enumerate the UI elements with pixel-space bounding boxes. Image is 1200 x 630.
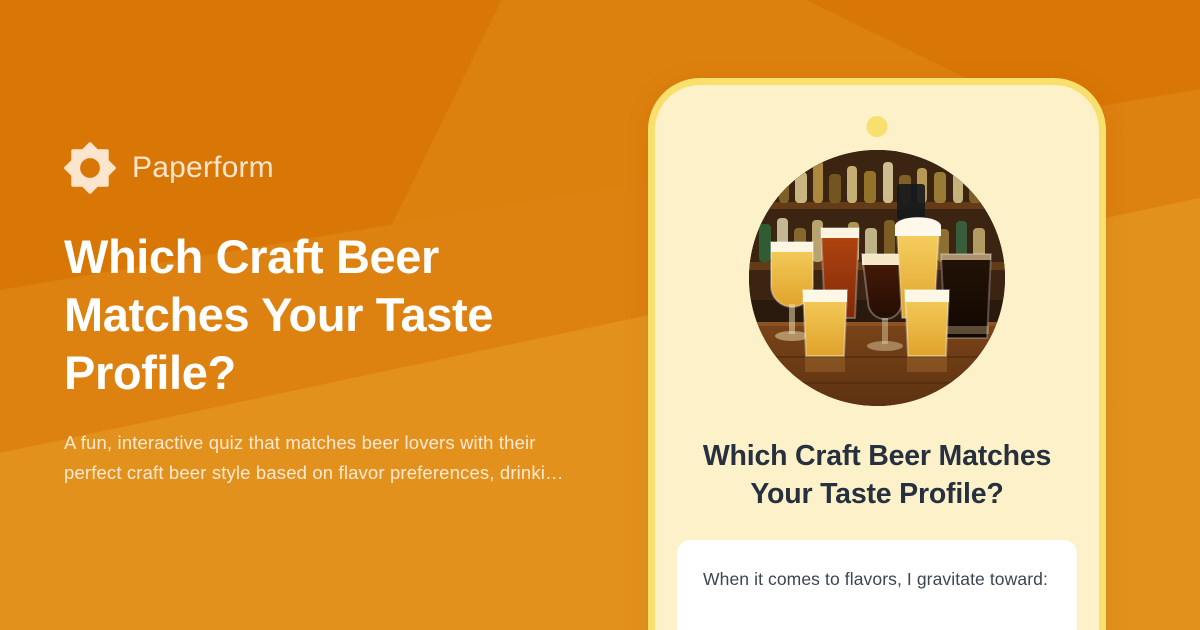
brand-lockup: Paperform — [64, 142, 594, 194]
hero-text-column: Paperform Which Craft Beer Matches Your … — [64, 0, 594, 630]
page-description: A fun, interactive quiz that matches bee… — [64, 428, 564, 488]
form-title: Which Craft Beer Matches Your Taste Prof… — [675, 437, 1079, 513]
form-hero-image — [749, 150, 1005, 406]
og-share-card: Paperform Which Craft Beer Matches Your … — [0, 0, 1200, 630]
page-title: Which Craft Beer Matches Your Taste Prof… — [64, 228, 564, 403]
paperform-logo-icon — [64, 142, 116, 194]
camera-dot-icon — [867, 116, 888, 137]
brand-name: Paperform — [132, 151, 274, 185]
form-preview-phone: Which Craft Beer Matches Your Taste Prof… — [648, 78, 1106, 630]
question-card[interactable]: When it comes to flavors, I gravitate to… — [677, 540, 1077, 630]
phone-screen: Which Craft Beer Matches Your Taste Prof… — [655, 85, 1099, 630]
question-label: When it comes to flavors, I gravitate to… — [703, 567, 1051, 592]
